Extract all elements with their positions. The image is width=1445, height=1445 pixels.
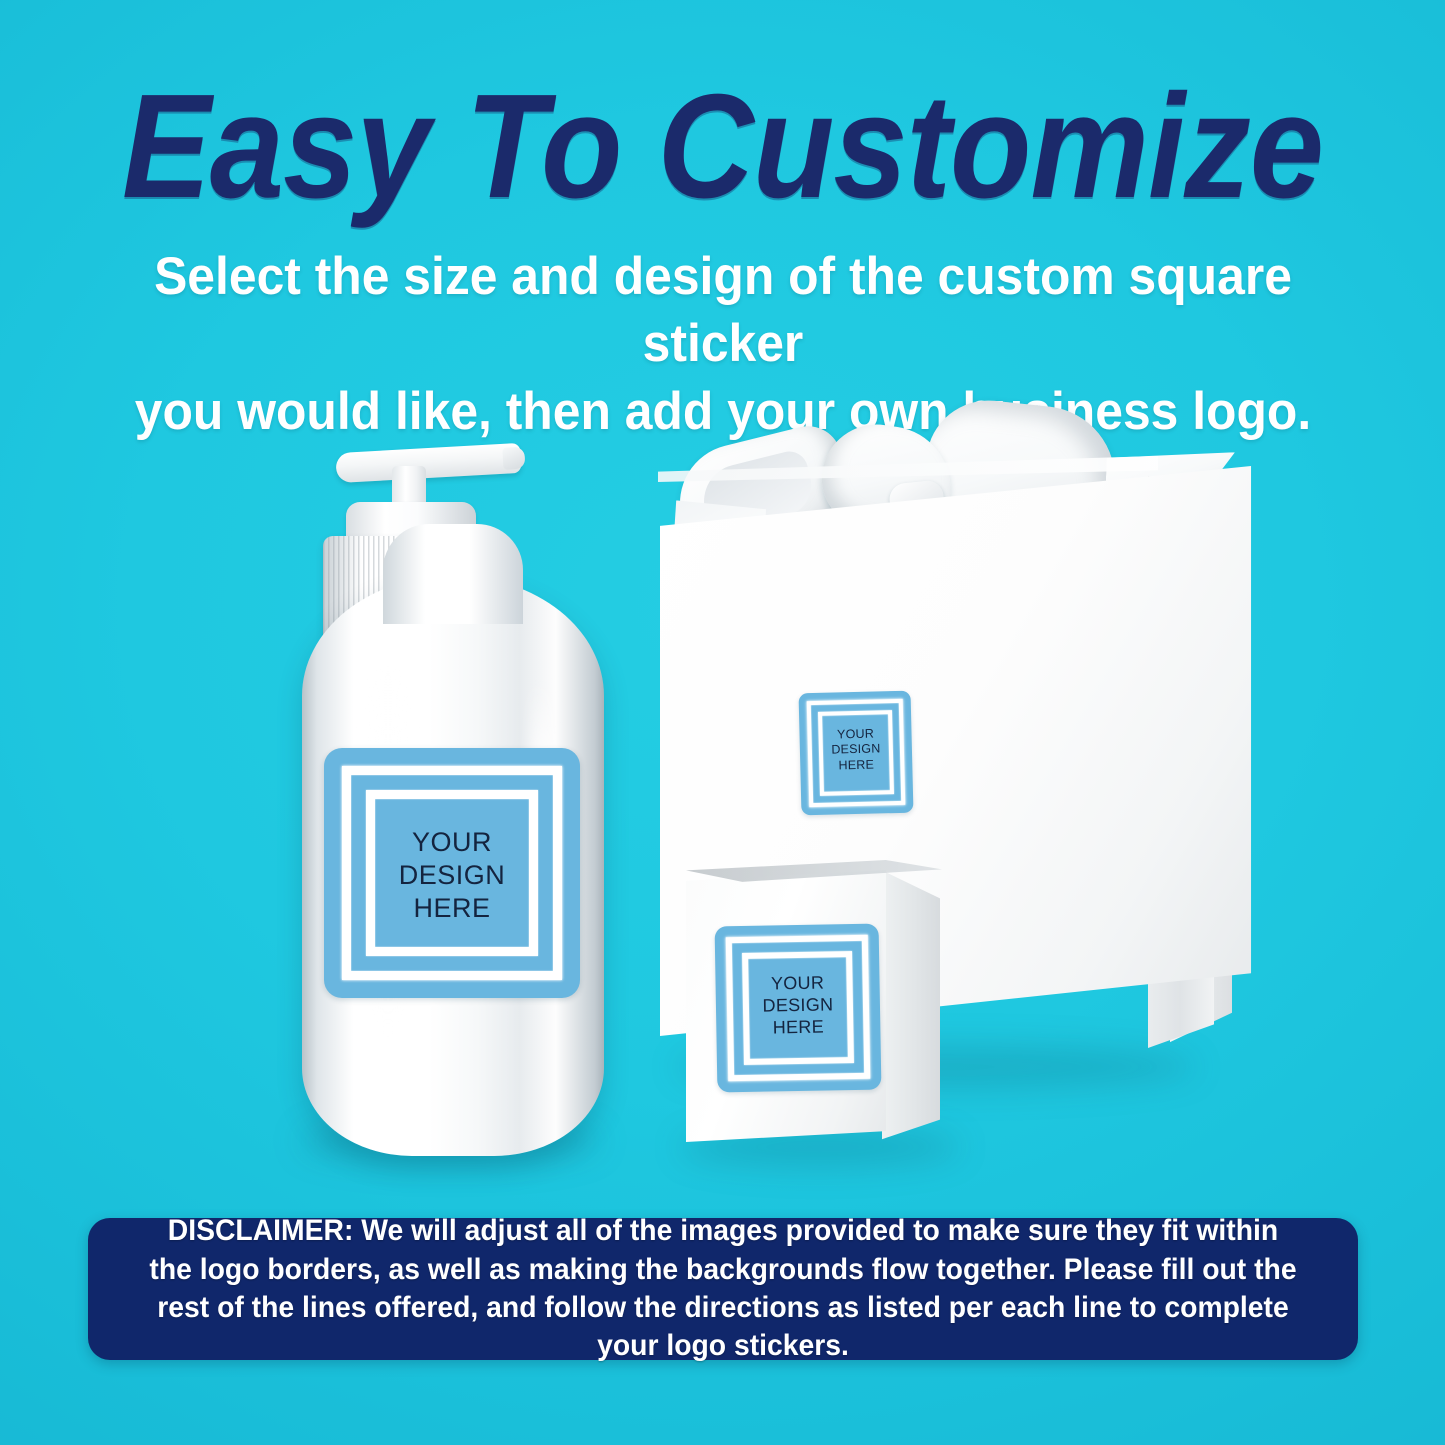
sticker-line-1: YOUR xyxy=(324,826,580,859)
small-box-side xyxy=(882,862,940,1142)
subtitle-line-1: Select the size and design of the custom… xyxy=(130,243,1314,378)
sticker-text: YOUR DESIGN HERE xyxy=(324,826,580,925)
sticker-line-1: YOUR xyxy=(715,972,879,997)
disclaimer-banner: DISCLAIMER: We will adjust all of the im… xyxy=(88,1218,1358,1360)
sticker-line-2: DESIGN xyxy=(716,994,880,1019)
sticker-text: YOUR DESIGN HERE xyxy=(715,972,880,1041)
page-title: Easy To Customize xyxy=(72,72,1373,223)
sticker-line-3: HERE xyxy=(324,892,580,925)
sticker-line-2: DESIGN xyxy=(324,859,580,892)
disclaimer-label: DISCLAIMER: xyxy=(168,1214,354,1247)
sticker-text: YOUR DESIGN HERE xyxy=(799,726,912,774)
sticker-line-3: HERE xyxy=(800,756,912,774)
promo-banner: Easy To Customize Select the size and de… xyxy=(0,0,1445,1445)
disclaimer-text: DISCLAIMER: We will adjust all of the im… xyxy=(147,1212,1299,1365)
pump-bottle: YOUR DESIGN HERE xyxy=(288,418,618,1158)
pump-handle xyxy=(335,443,521,483)
sticker-gift-box[interactable]: YOUR DESIGN HERE xyxy=(799,691,914,816)
sticker-bottle[interactable]: YOUR DESIGN HERE xyxy=(324,748,580,998)
sticker-small-box[interactable]: YOUR DESIGN HERE xyxy=(715,924,882,1093)
sticker-line-3: HERE xyxy=(716,1015,880,1040)
